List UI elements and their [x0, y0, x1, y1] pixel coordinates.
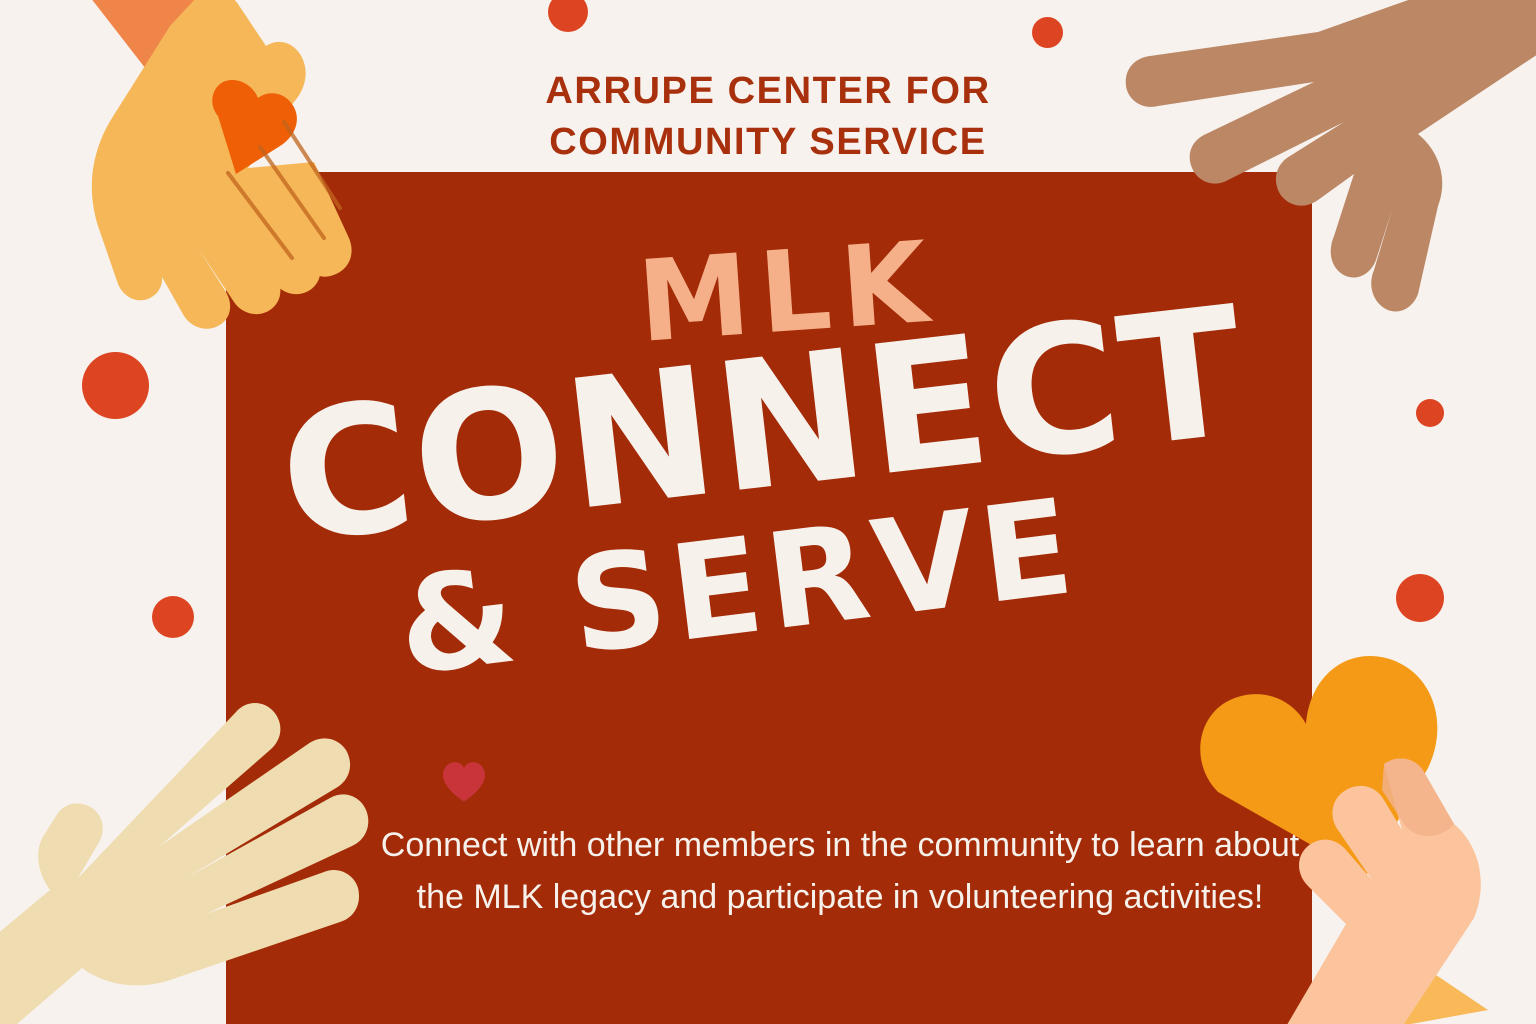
hand-top-right — [1118, 0, 1536, 314]
decor-dot — [548, 0, 588, 32]
decor-dot — [1416, 399, 1444, 427]
hand-bottom-right — [1188, 640, 1536, 1024]
decor-dot — [82, 352, 149, 419]
hand-shape-top-right — [1126, 0, 1536, 312]
decor-dot — [152, 596, 194, 638]
heart-icon — [440, 758, 488, 806]
poster-canvas: ARRUPE CENTER FOR COMMUNITY SERVICE MLK … — [0, 0, 1536, 1024]
hand-top-left — [78, 0, 408, 350]
decor-dot — [1032, 17, 1063, 48]
hand-bottom-left — [0, 690, 390, 1024]
hand-shape-bottom-left — [0, 703, 368, 1024]
description-text: Connect with other members in the commun… — [380, 820, 1300, 923]
decor-dot — [1396, 574, 1444, 622]
